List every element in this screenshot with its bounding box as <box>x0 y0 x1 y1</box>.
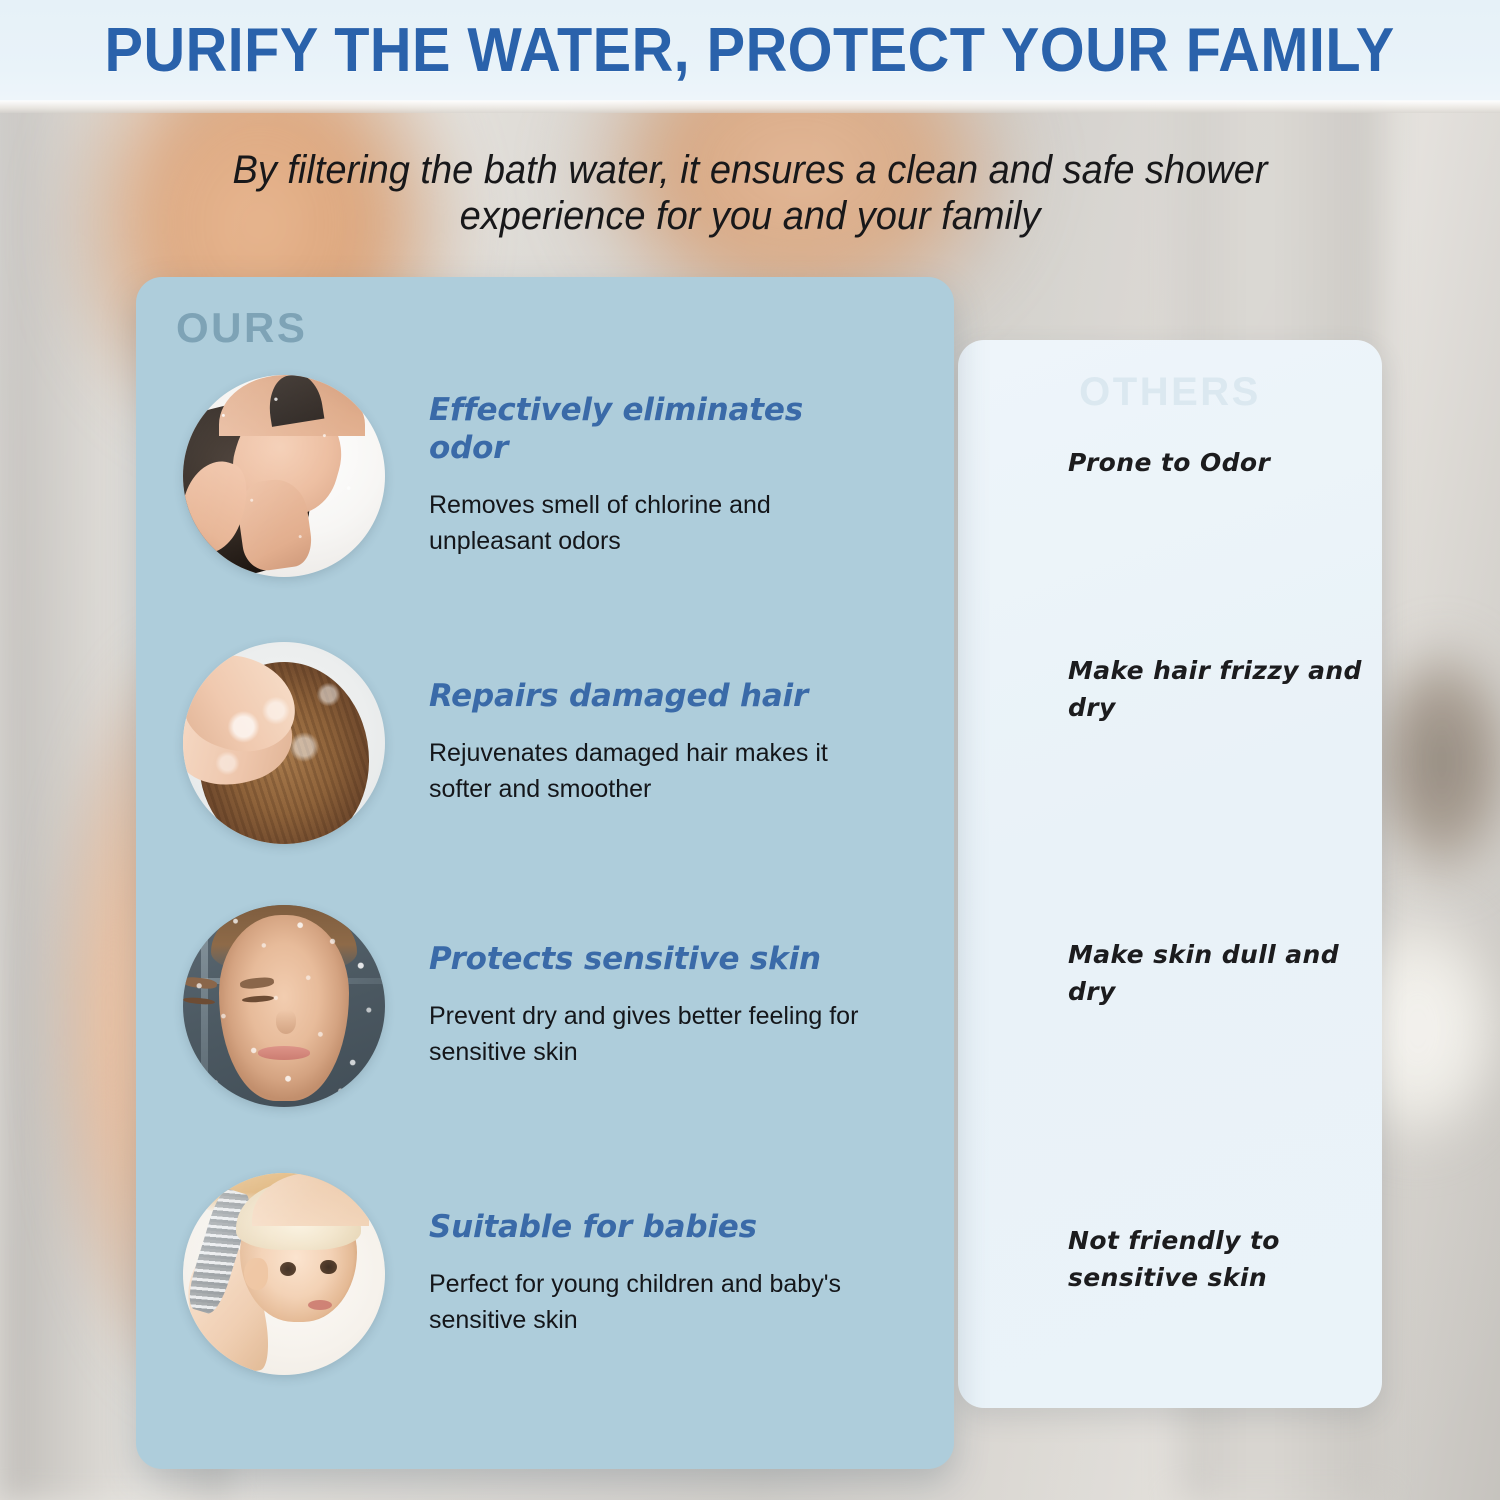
feature-text: Suitable for babies Perfect for young ch… <box>429 1209 859 1338</box>
feature-heading: Protects sensitive skin <box>429 941 859 979</box>
hands-shampooing-hair-photo <box>183 642 385 844</box>
others-list-item: Make skin dull and dry <box>1068 936 1368 1010</box>
feature-row: Suitable for babies Perfect for young ch… <box>136 1169 954 1379</box>
feature-body: Rejuvenates damaged hair makes it softer… <box>429 735 859 808</box>
feature-body: Removes smell of chlorine and unpleasant… <box>429 487 859 560</box>
feature-row: Protects sensitive skin Prevent dry and … <box>136 901 954 1111</box>
feature-text: Repairs damaged hair Rejuvenates damaged… <box>429 678 859 807</box>
ours-label: OURS <box>176 304 307 352</box>
woman-rinsing-hair-photo <box>183 375 385 577</box>
feature-body: Perfect for young children and baby's se… <box>429 1266 859 1339</box>
others-list-item: Make hair frizzy and dry <box>1068 652 1368 726</box>
others-label: OTHERS <box>958 370 1382 415</box>
header-shelf-edge <box>0 101 1500 113</box>
infographic-canvas: PURIFY THE WATER, PROTECT YOUR FAMILY By… <box>0 0 1500 1500</box>
feature-heading: Suitable for babies <box>429 1209 859 1247</box>
feature-heading: Repairs damaged hair <box>429 678 859 716</box>
others-list: Prone to Odor Make hair frizzy and dry M… <box>1068 444 1388 1374</box>
others-list-item: Prone to Odor <box>1068 444 1368 481</box>
page-title: PURIFY THE WATER, PROTECT YOUR FAMILY <box>105 15 1395 86</box>
subtitle-line-2: experience for you and your family <box>209 194 1292 240</box>
header-band: PURIFY THE WATER, PROTECT YOUR FAMILY <box>0 0 1500 101</box>
feature-row: Effectively eliminates odor Removes smel… <box>136 371 954 581</box>
feature-row: Repairs damaged hair Rejuvenates damaged… <box>136 638 954 848</box>
others-list-item: Not friendly to sensitive skin <box>1068 1222 1368 1296</box>
ours-card: OURS Effectively eliminates odor Removes… <box>136 277 954 1469</box>
baby-bath-photo <box>183 1173 385 1375</box>
others-card: OTHERS Prone to Odor Make hair frizzy an… <box>958 340 1382 1408</box>
subtitle: By filtering the bath water, it ensures … <box>209 148 1292 239</box>
subtitle-line-1: By filtering the bath water, it ensures … <box>209 148 1292 194</box>
feature-heading: Effectively eliminates odor <box>429 392 859 468</box>
face-in-shower-water-photo <box>183 905 385 1107</box>
feature-text: Effectively eliminates odor Removes smel… <box>429 392 859 559</box>
feature-body: Prevent dry and gives better feeling for… <box>429 998 859 1071</box>
feature-text: Protects sensitive skin Prevent dry and … <box>429 941 859 1070</box>
